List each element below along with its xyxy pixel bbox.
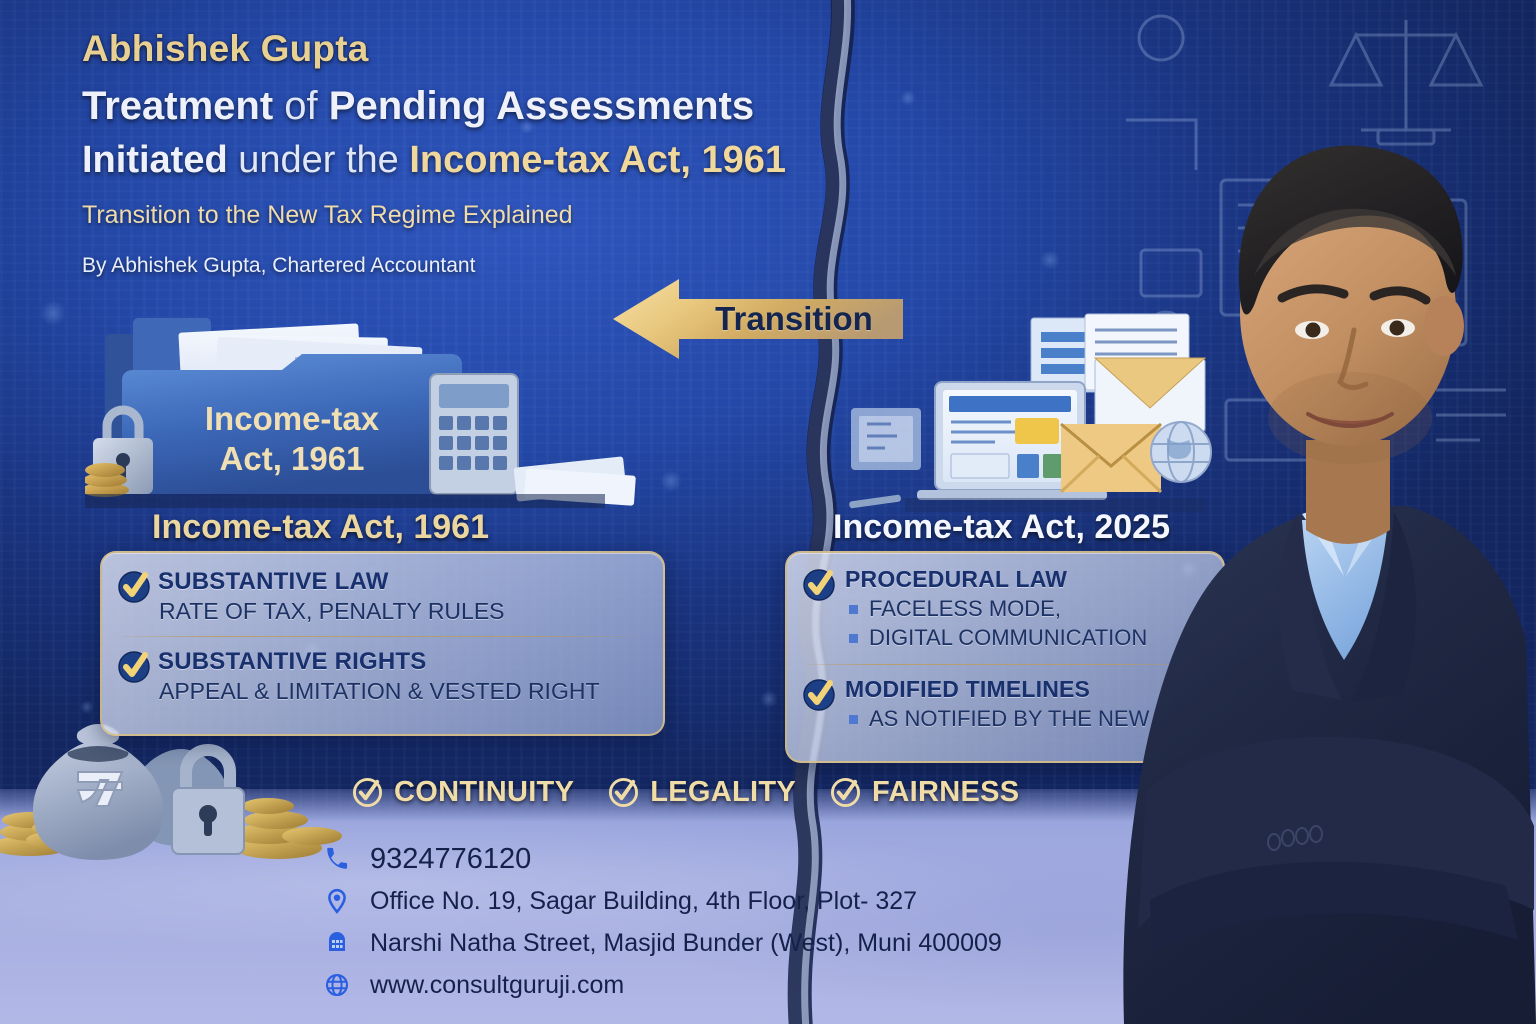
author-name: Abhishek Gupta: [82, 28, 882, 70]
presenter-photo: [1106, 0, 1536, 1024]
list-item: SUBSTANTIVE LAW RATE OF TAX, PENALTY RUL…: [102, 568, 663, 625]
badge-legality: LEGALITY: [608, 776, 796, 809]
section-title-left: Income-tax Act, 1961: [152, 508, 489, 547]
contact-row-website[interactable]: www.consultguruji.com: [322, 964, 1002, 1006]
title-line2-gold: Income-tax Act, 1961: [409, 139, 786, 181]
badge-fairness: FAIRNESS: [830, 776, 1019, 809]
building-icon: [322, 928, 352, 958]
check-circle-icon: [118, 651, 150, 683]
contact-address-line-1: Office No. 19, Sagar Building, 4th Floor…: [370, 887, 917, 916]
title-line1-bold-b: Pending Assessments: [329, 84, 754, 128]
illustration-physical-records: Income-tax Act, 1961: [85, 312, 685, 527]
contact-row-address-2: Narshi Natha Street, Masjid Bunder (West…: [322, 922, 1002, 964]
monitor-icon: [851, 408, 921, 470]
coins-icon: [85, 463, 129, 497]
list-item-subtitle: APPEAL & LIMITATION & VESTED RIGHT: [159, 678, 663, 705]
list-item: SUBSTANTIVE RIGHTS APPEAL & LIMITATION &…: [102, 648, 663, 705]
contact-row-phone[interactable]: 9324776120: [322, 838, 1002, 880]
card-income-tax-act-1961: SUBSTANTIVE LAW RATE OF TAX, PENALTY RUL…: [100, 551, 665, 736]
badge-label: CONTINUITY: [394, 776, 574, 809]
title-line1-bold-a: Treatment: [82, 84, 273, 128]
badge-label: FAIRNESS: [872, 776, 1019, 809]
badge-continuity: CONTINUITY: [352, 776, 574, 809]
check-circle-outline-icon: [352, 777, 383, 808]
headline-block: Abhishek Gupta Treatment of Pending Asse…: [82, 28, 882, 278]
transition-label: Transition: [685, 275, 903, 363]
folder-label-line1: Income-tax: [205, 400, 380, 437]
contact-block: 9324776120 Office No. 19, Sagar Building…: [322, 838, 1002, 1006]
list-item-title: SUBSTANTIVE RIGHTS: [158, 648, 663, 676]
check-circle-icon: [118, 571, 150, 603]
location-icon: [322, 886, 352, 916]
title-line2-bold: Initiated: [82, 139, 228, 181]
title-line-1: Treatment of Pending Assessments: [82, 84, 882, 129]
title-line-2: Initiated under the Income-tax Act, 1961: [82, 139, 882, 182]
subtitle: Transition to the New Tax Regime Explain…: [82, 201, 882, 230]
check-circle-outline-icon: [608, 777, 639, 808]
phone-icon: [322, 844, 352, 874]
contact-address-line-2: Narshi Natha Street, Masjid Bunder (West…: [370, 929, 1002, 958]
poster-canvas: Abhishek Gupta Treatment of Pending Asse…: [0, 0, 1536, 1024]
check-circle-outline-icon: [830, 777, 861, 808]
transition-arrow: Transition: [613, 275, 903, 363]
title-line1-light: of: [273, 84, 329, 128]
title-line2-light: under the: [228, 139, 410, 181]
contact-phone-text: 9324776120: [370, 843, 531, 876]
badge-label: LEGALITY: [650, 776, 796, 809]
globe-icon: [322, 970, 352, 1000]
list-item-subtitle: RATE OF TAX, PENALTY RULES: [159, 598, 663, 625]
contact-website-text: www.consultguruji.com: [370, 971, 624, 1000]
list-item-title: SUBSTANTIVE LAW: [158, 568, 663, 596]
principles-badge-row: CONTINUITY LEGALITY FAIRNESS: [352, 776, 1019, 809]
contact-row-address-1: Office No. 19, Sagar Building, 4th Floor…: [322, 880, 1002, 922]
folder-label-line2: Act, 1961: [220, 440, 365, 477]
check-circle-icon: [803, 569, 835, 601]
calculator-icon: [430, 374, 518, 494]
check-circle-icon: [803, 679, 835, 711]
card-divider: [122, 636, 639, 637]
